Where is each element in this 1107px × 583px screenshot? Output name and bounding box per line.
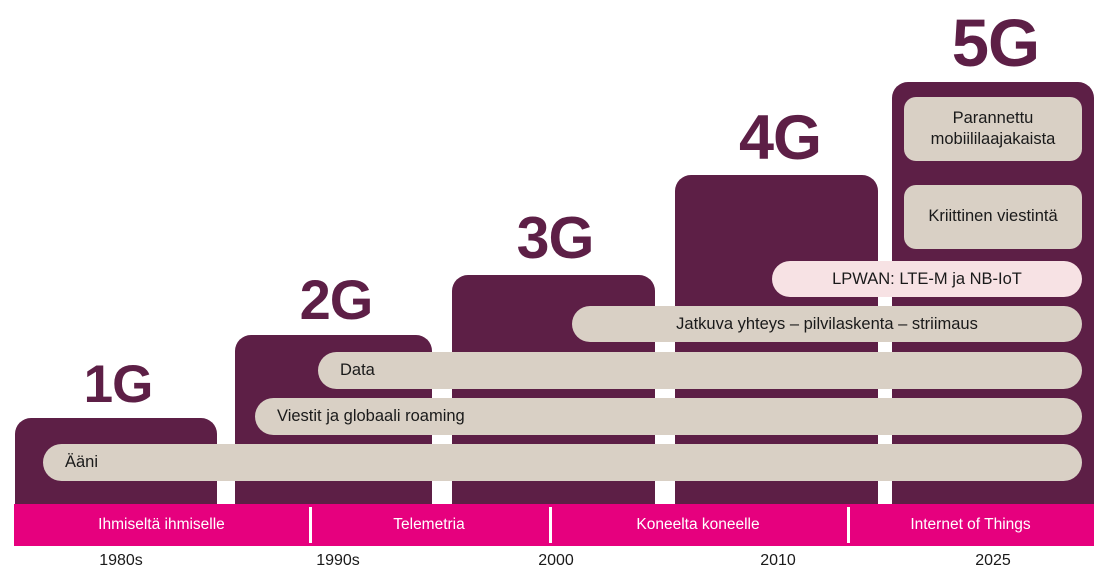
capability-bar-continuous-connectivity: Jatkuva yhteys – pilvilaskenta – striima… [572,306,1082,342]
capability-bar-data: Data [318,352,1082,389]
era-label-human-to-human: Ihmiseltä ihmiselle [98,516,225,534]
generation-label-1g: 1G [70,358,166,411]
year-label-2025: 2025 [938,552,1048,570]
generation-label-4g: 4G [725,107,835,170]
generation-label-5g: 5G [938,10,1053,77]
year-label-2000: 2000 [501,552,611,570]
era-segment-human-to-human: Ihmiseltä ihmiselle [14,504,309,546]
capability-bar-messaging-roaming: Viestit ja globaali roaming [255,398,1082,435]
era-label-machine-to-machine: Koneelta koneelle [636,516,759,534]
generations-timeline-infographic: 1G 2G 3G 4G 5G Parannettu mobiililaajaka… [0,0,1107,583]
era-segment-telemetry: Telemetria [309,504,549,546]
era-segment-machine-to-machine: Koneelta koneelle [549,504,847,546]
era-band: Ihmiseltä ihmiselle Telemetria Koneelta … [14,504,1094,546]
era-label-telemetry: Telemetria [393,516,465,534]
capability-bar-lpwan: LPWAN: LTE-M ja NB-IoT [772,261,1082,297]
era-segment-internet-of-things: Internet of Things [847,504,1094,546]
year-label-2010: 2010 [723,552,833,570]
year-label-1990s: 1990s [283,552,393,570]
generation-label-3g: 3G [504,209,606,268]
era-label-internet-of-things: Internet of Things [910,516,1030,534]
generation-label-2g: 2G [287,272,385,328]
feature-box-critical-communication: Kriittinen viestintä [904,185,1082,249]
feature-box-enhanced-mobile-broadband: Parannettu mobiililaajakaista [904,97,1082,161]
year-label-1980s: 1980s [66,552,176,570]
capability-bar-voice: Ääni [43,444,1082,481]
